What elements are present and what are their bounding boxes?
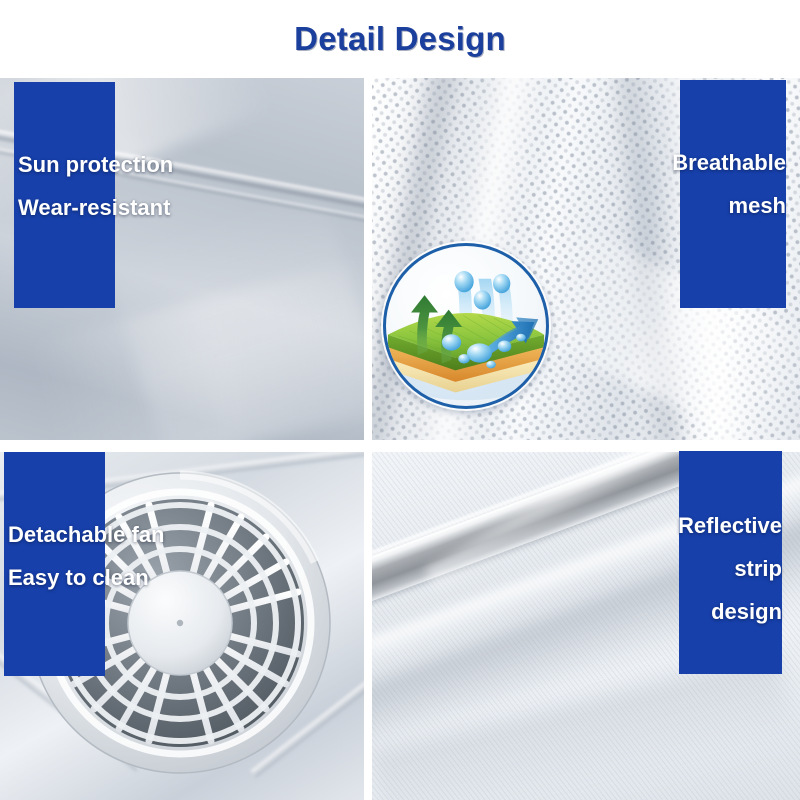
caption-bar-reflective-strip: [679, 451, 782, 674]
caption-bar-detachable-fan: [4, 452, 105, 676]
caption-bar-sun-protection: [14, 82, 115, 308]
breathability-diagram-badge: [383, 243, 549, 409]
infographic-page: Detail Design: [0, 0, 800, 800]
caption-bar-breathable-mesh: [680, 80, 786, 308]
page-title: Detail Design: [0, 20, 800, 58]
